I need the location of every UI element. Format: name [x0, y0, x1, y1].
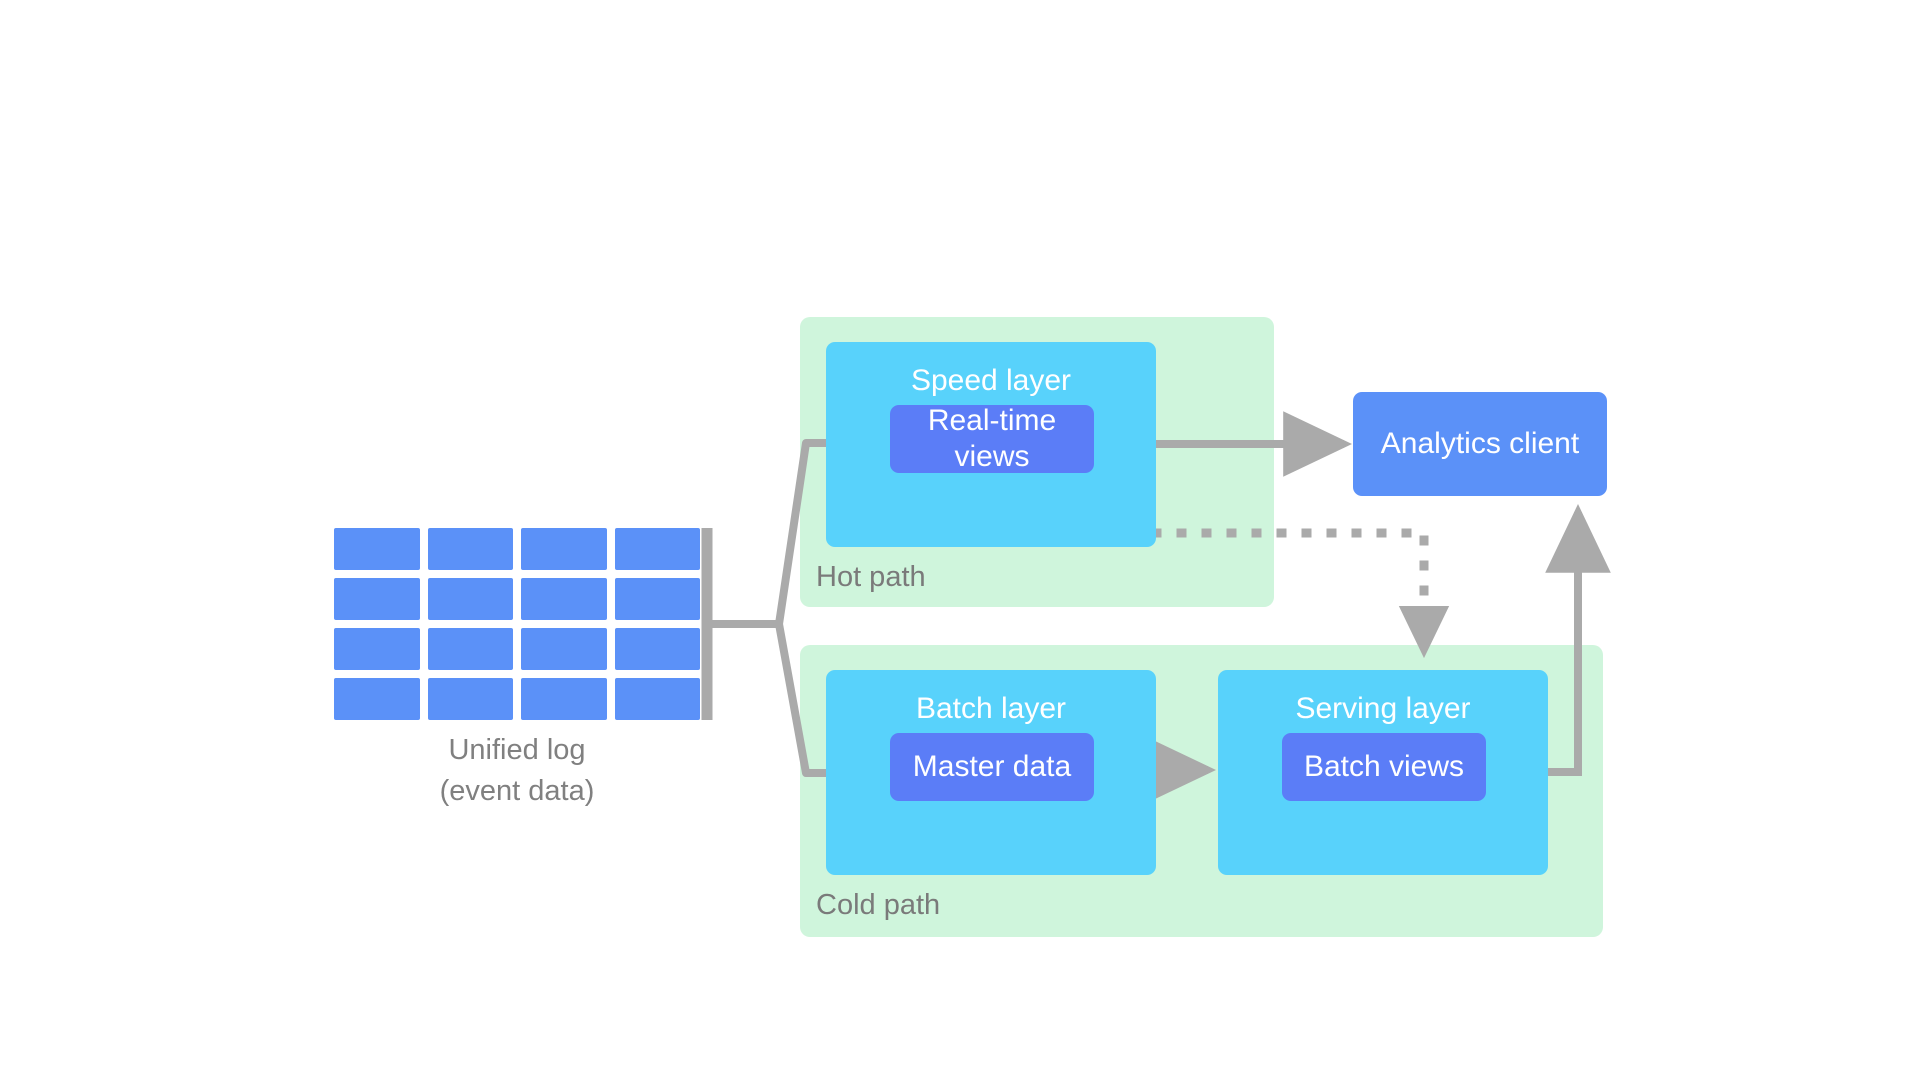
batch-layer-title: Batch layer — [826, 690, 1156, 728]
log-cell — [521, 678, 607, 720]
log-cell — [615, 578, 701, 620]
cold-path-label: Cold path — [816, 888, 940, 922]
serving-layer-title: Serving layer — [1218, 690, 1548, 728]
log-cell — [615, 528, 701, 570]
unified-log-grid — [334, 528, 700, 720]
real-time-views-box: Real-time views — [890, 405, 1094, 473]
unified-log-caption: Unified log (event data) — [334, 730, 700, 812]
log-cell — [615, 628, 701, 670]
log-cell — [615, 678, 701, 720]
log-cell — [334, 528, 420, 570]
diagram-canvas: Unified log (event data) Speed layer Rea… — [0, 0, 1920, 1080]
batch-views-box: Batch views — [1282, 733, 1486, 801]
log-cell — [334, 678, 420, 720]
log-cell — [334, 578, 420, 620]
log-cell — [428, 578, 514, 620]
log-cell — [521, 628, 607, 670]
log-cell — [428, 678, 514, 720]
speed-layer-title: Speed layer — [826, 362, 1156, 400]
log-cell — [428, 628, 514, 670]
log-cell — [428, 528, 514, 570]
hot-path-label: Hot path — [816, 560, 926, 594]
master-data-box: Master data — [890, 733, 1094, 801]
log-cell — [521, 578, 607, 620]
log-cell — [334, 628, 420, 670]
analytics-client-box: Analytics client — [1353, 392, 1607, 496]
log-cell — [521, 528, 607, 570]
